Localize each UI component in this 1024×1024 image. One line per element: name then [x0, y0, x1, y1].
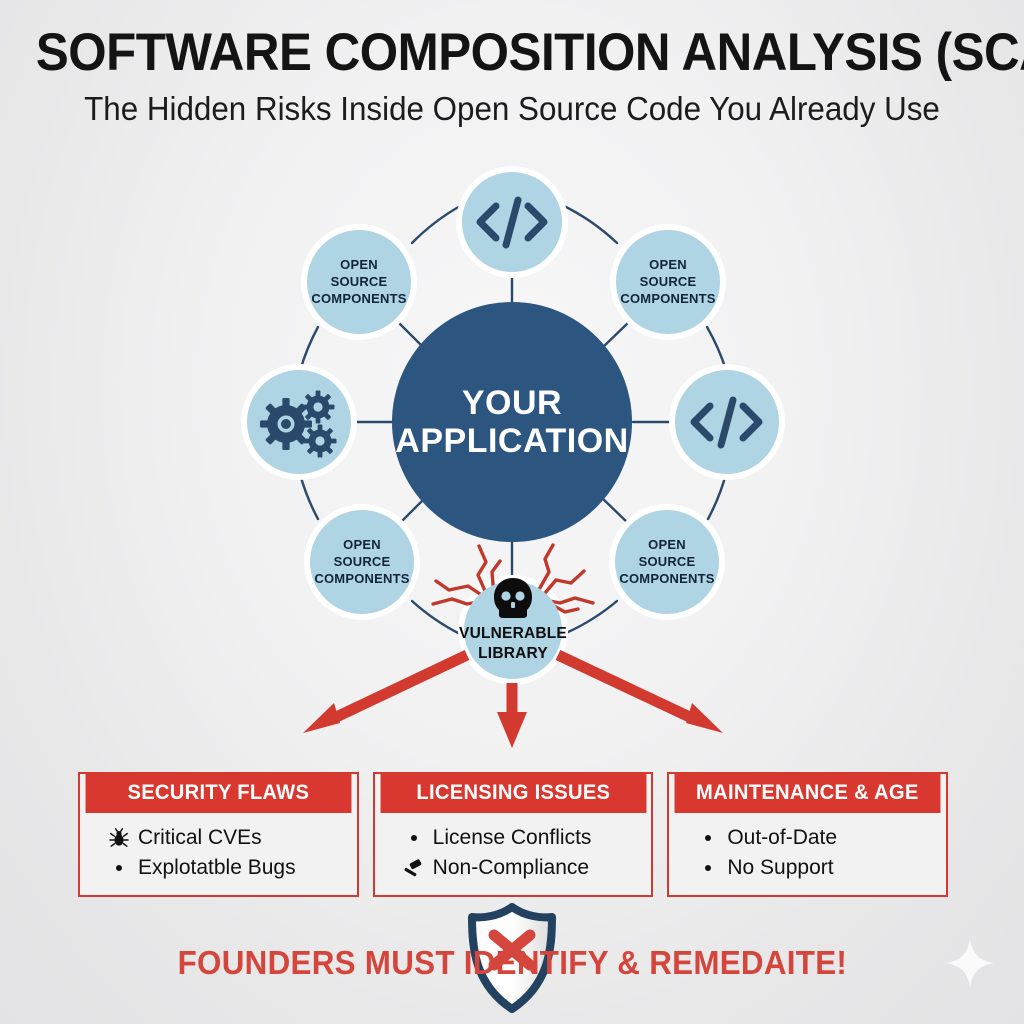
node-open-source-components-bottom-right[interactable]: OPEN SOURCE COMPONENTS	[615, 510, 719, 614]
risk-box-licensing-issues[interactable]: LICENSING ISSUES License Conflicts	[373, 772, 654, 897]
node-label: OPEN	[340, 257, 378, 272]
list-item-label: Critical CVEs	[138, 826, 262, 850]
node-label: VULNERABLE	[459, 625, 567, 642]
footer-call-to-action: FOUNDERS MUST IDENTIFY & REMEDAITE!	[177, 944, 847, 982]
risk-box-security-flaws[interactable]: SECURITY FLAWS	[78, 772, 359, 897]
node-label: SOURCE	[640, 274, 697, 289]
node-label: SOURCE	[334, 554, 391, 569]
node-label: SOURCE	[639, 554, 696, 569]
risk-box-title: SECURITY FLAWS	[86, 774, 352, 813]
center-label-line1: YOUR	[462, 384, 562, 422]
list-item: Explotatble Bugs	[80, 853, 357, 883]
bullet-dot-icon	[403, 835, 425, 841]
center-label-line2: APPLICATION	[395, 422, 628, 460]
risk-box-maintenance-age[interactable]: MAINTENANCE & AGE Out-of-Date No Support	[667, 772, 948, 897]
list-item: Out-of-Date	[669, 823, 946, 853]
list-item: License Conflicts	[375, 823, 652, 853]
arrow-right	[558, 655, 723, 733]
node-label: COMPONENTS	[311, 291, 406, 306]
node-label: COMPONENTS	[620, 291, 715, 306]
sparkle-icon	[944, 937, 996, 994]
infographic-poster: SOFTWARE COMPOSITION ANALYSIS (SCA): The…	[0, 0, 1024, 1024]
list-item: No Support	[669, 853, 946, 883]
node-label: COMPONENTS	[619, 571, 714, 586]
node-label: COMPONENTS	[314, 571, 409, 586]
bullet-dot-icon	[697, 865, 719, 871]
node-label: SOURCE	[331, 274, 388, 289]
list-item-label: Out-of-Date	[727, 826, 837, 850]
arrow-middle	[497, 683, 527, 748]
node-code-right[interactable]	[675, 370, 779, 474]
list-item-label: Non-Compliance	[433, 856, 589, 880]
gavel-icon	[403, 858, 425, 878]
list-item-label: License Conflicts	[433, 826, 592, 850]
bullet-dot-icon	[697, 835, 719, 841]
node-label: OPEN	[343, 537, 381, 552]
list-item-label: No Support	[727, 856, 833, 880]
node-label: OPEN	[648, 537, 686, 552]
bullet-dot-icon	[108, 865, 130, 871]
risk-box-title: LICENSING ISSUES	[380, 774, 646, 813]
list-item-label: Explotatble Bugs	[138, 856, 296, 880]
node-gears-left[interactable]	[247, 370, 351, 474]
bug-icon	[108, 828, 130, 848]
node-code-top[interactable]	[462, 172, 562, 272]
center-node-your-application[interactable]: YOUR APPLICATION	[392, 302, 632, 542]
risk-box-title: MAINTENANCE & AGE	[675, 774, 941, 813]
risk-box-body: Out-of-Date No Support	[669, 813, 946, 895]
risk-boxes: SECURITY FLAWS	[78, 772, 948, 897]
skull-icon	[494, 578, 532, 618]
node-open-source-components-bottom-left[interactable]: OPEN SOURCE COMPONENTS	[310, 510, 414, 614]
node-open-source-components-top-left[interactable]: OPEN SOURCE COMPONENTS	[307, 230, 411, 334]
arrow-left	[303, 655, 467, 733]
list-item: Critical CVEs	[80, 823, 357, 853]
risk-box-body: Critical CVEs Explotatble Bugs	[80, 813, 357, 895]
risk-box-body: License Conflicts Non-Compliance	[375, 813, 652, 895]
node-label: OPEN	[649, 257, 687, 272]
node-open-source-components-top-right[interactable]: OPEN SOURCE COMPONENTS	[616, 230, 720, 334]
node-label: LIBRARY	[478, 645, 548, 662]
list-item: Non-Compliance	[375, 853, 652, 883]
